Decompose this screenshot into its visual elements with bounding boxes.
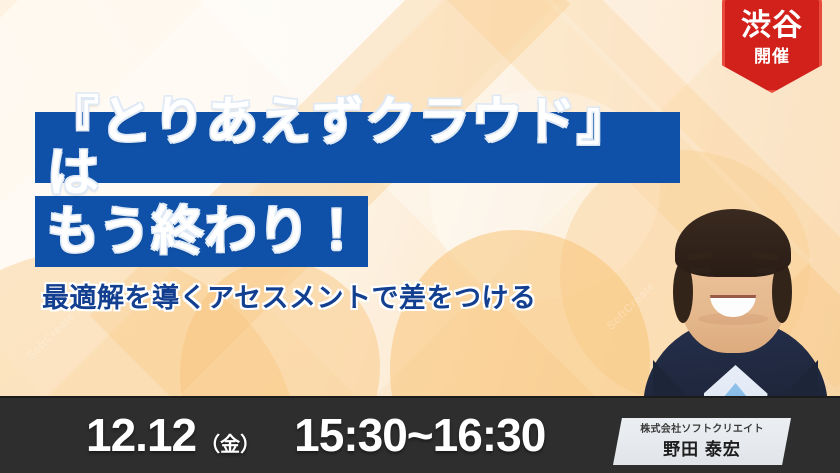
- footer-top-rule: [0, 396, 840, 398]
- venue-badge-city: 渋谷: [741, 11, 803, 41]
- seminar-banner: SoftCreate SoftCreate SoftCreate 渋谷 開催 『…: [0, 0, 840, 473]
- headline-line-1-text: 『とりあえずクラウド』は: [47, 96, 680, 200]
- portrait-eye-right: [754, 268, 776, 273]
- speaker-nameplate: 株式会社ソフトクリエイト 野田 泰宏: [613, 418, 791, 465]
- venue-badge-subtitle: 開催: [754, 48, 790, 65]
- speaker-company: 株式会社ソフトクリエイト: [640, 425, 764, 435]
- speaker-name: 野田 泰宏: [663, 441, 741, 458]
- event-time-range: 15:30~16:30: [294, 408, 545, 462]
- headline-line-1: 『とりあえずクラウド』は: [35, 112, 680, 183]
- event-datetime: 12.12 （金） 15:30~16:30: [86, 408, 545, 462]
- headline-line-2: もう終わり！: [35, 196, 368, 267]
- portrait-hair: [675, 209, 791, 277]
- subtitle-text: 最適解を導くアセスメントで差をつける: [42, 276, 536, 315]
- headline-line-2-text: もう終わり！: [47, 206, 363, 258]
- event-day-of-week: （金）: [200, 428, 260, 457]
- event-date: 12.12: [86, 408, 196, 462]
- portrait-eye-left: [689, 268, 711, 273]
